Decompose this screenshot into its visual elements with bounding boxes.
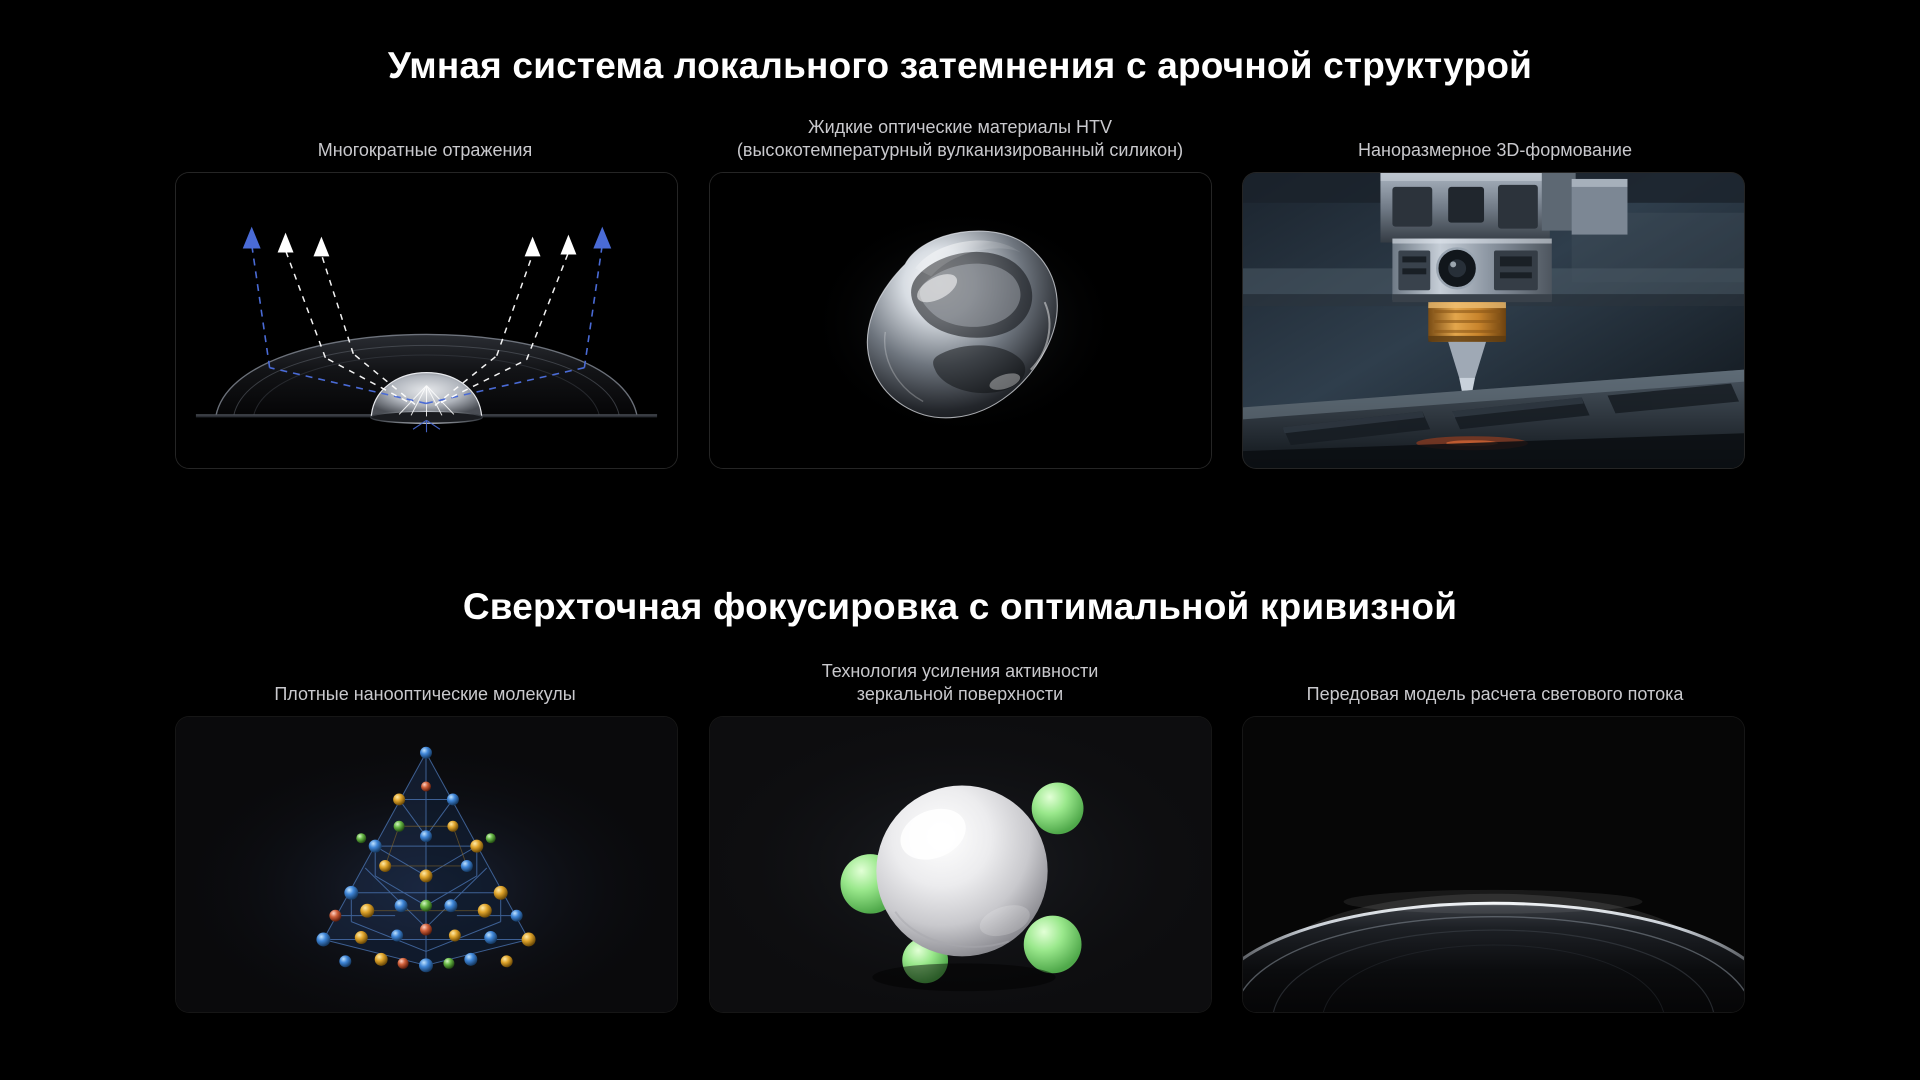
caption-row-1: Многократные отражения Жидкие оптические…: [175, 112, 1745, 162]
page-title: Умная система локального затемнения с ар…: [0, 45, 1920, 87]
panel-liquid-optical-material[interactable]: [709, 172, 1212, 469]
panel-nano-3d-molding[interactable]: [1242, 172, 1745, 469]
section-precision-focus: Сверхточная фокусировка с оптимальной кр…: [0, 540, 1920, 1080]
caption-row-2: Плотные нанооптические молекулы Технолог…: [175, 656, 1745, 706]
caption-liquid-optical-material: Жидкие оптические материалы HTV (высокот…: [710, 112, 1210, 162]
panel-light-flux-dome[interactable]: [1242, 716, 1745, 1013]
cnc-nano-3d-molding-svg: [1243, 173, 1744, 468]
caption-mirror-surface-activity: Технология усиления активности зеркально…: [710, 656, 1210, 706]
panel-mirror-surface-molecule[interactable]: [709, 716, 1212, 1013]
multiple-reflections-diagram-svg: [176, 173, 677, 468]
light-flux-dome-svg: [1243, 717, 1744, 1012]
section-local-dimming: Умная система локального затемнения с ар…: [0, 0, 1920, 540]
molecule-lattice-svg: [176, 717, 677, 1012]
caption-multiple-reflections: Многократные отражения: [175, 112, 675, 162]
caption-nano-optical-molecules: Плотные нанооптические молекулы: [175, 656, 675, 706]
page-title-2: Сверхточная фокусировка с оптимальной кр…: [0, 586, 1920, 628]
panel-multiple-reflections-diagram[interactable]: [175, 172, 678, 469]
mirror-surface-molecule-svg: [710, 717, 1211, 1012]
caption-nano-3d-molding: Наноразмерное 3D-формование: [1245, 112, 1745, 162]
panel-row-1: [175, 172, 1745, 469]
caption-light-flux-model: Передовая модель расчета светового поток…: [1245, 656, 1745, 706]
panel-row-2: [175, 716, 1745, 1013]
slide-root: Умная система локального затемнения с ар…: [0, 0, 1920, 1080]
liquid-optical-material-svg: [710, 173, 1211, 468]
panel-nano-optical-molecule-lattice[interactable]: [175, 716, 678, 1013]
